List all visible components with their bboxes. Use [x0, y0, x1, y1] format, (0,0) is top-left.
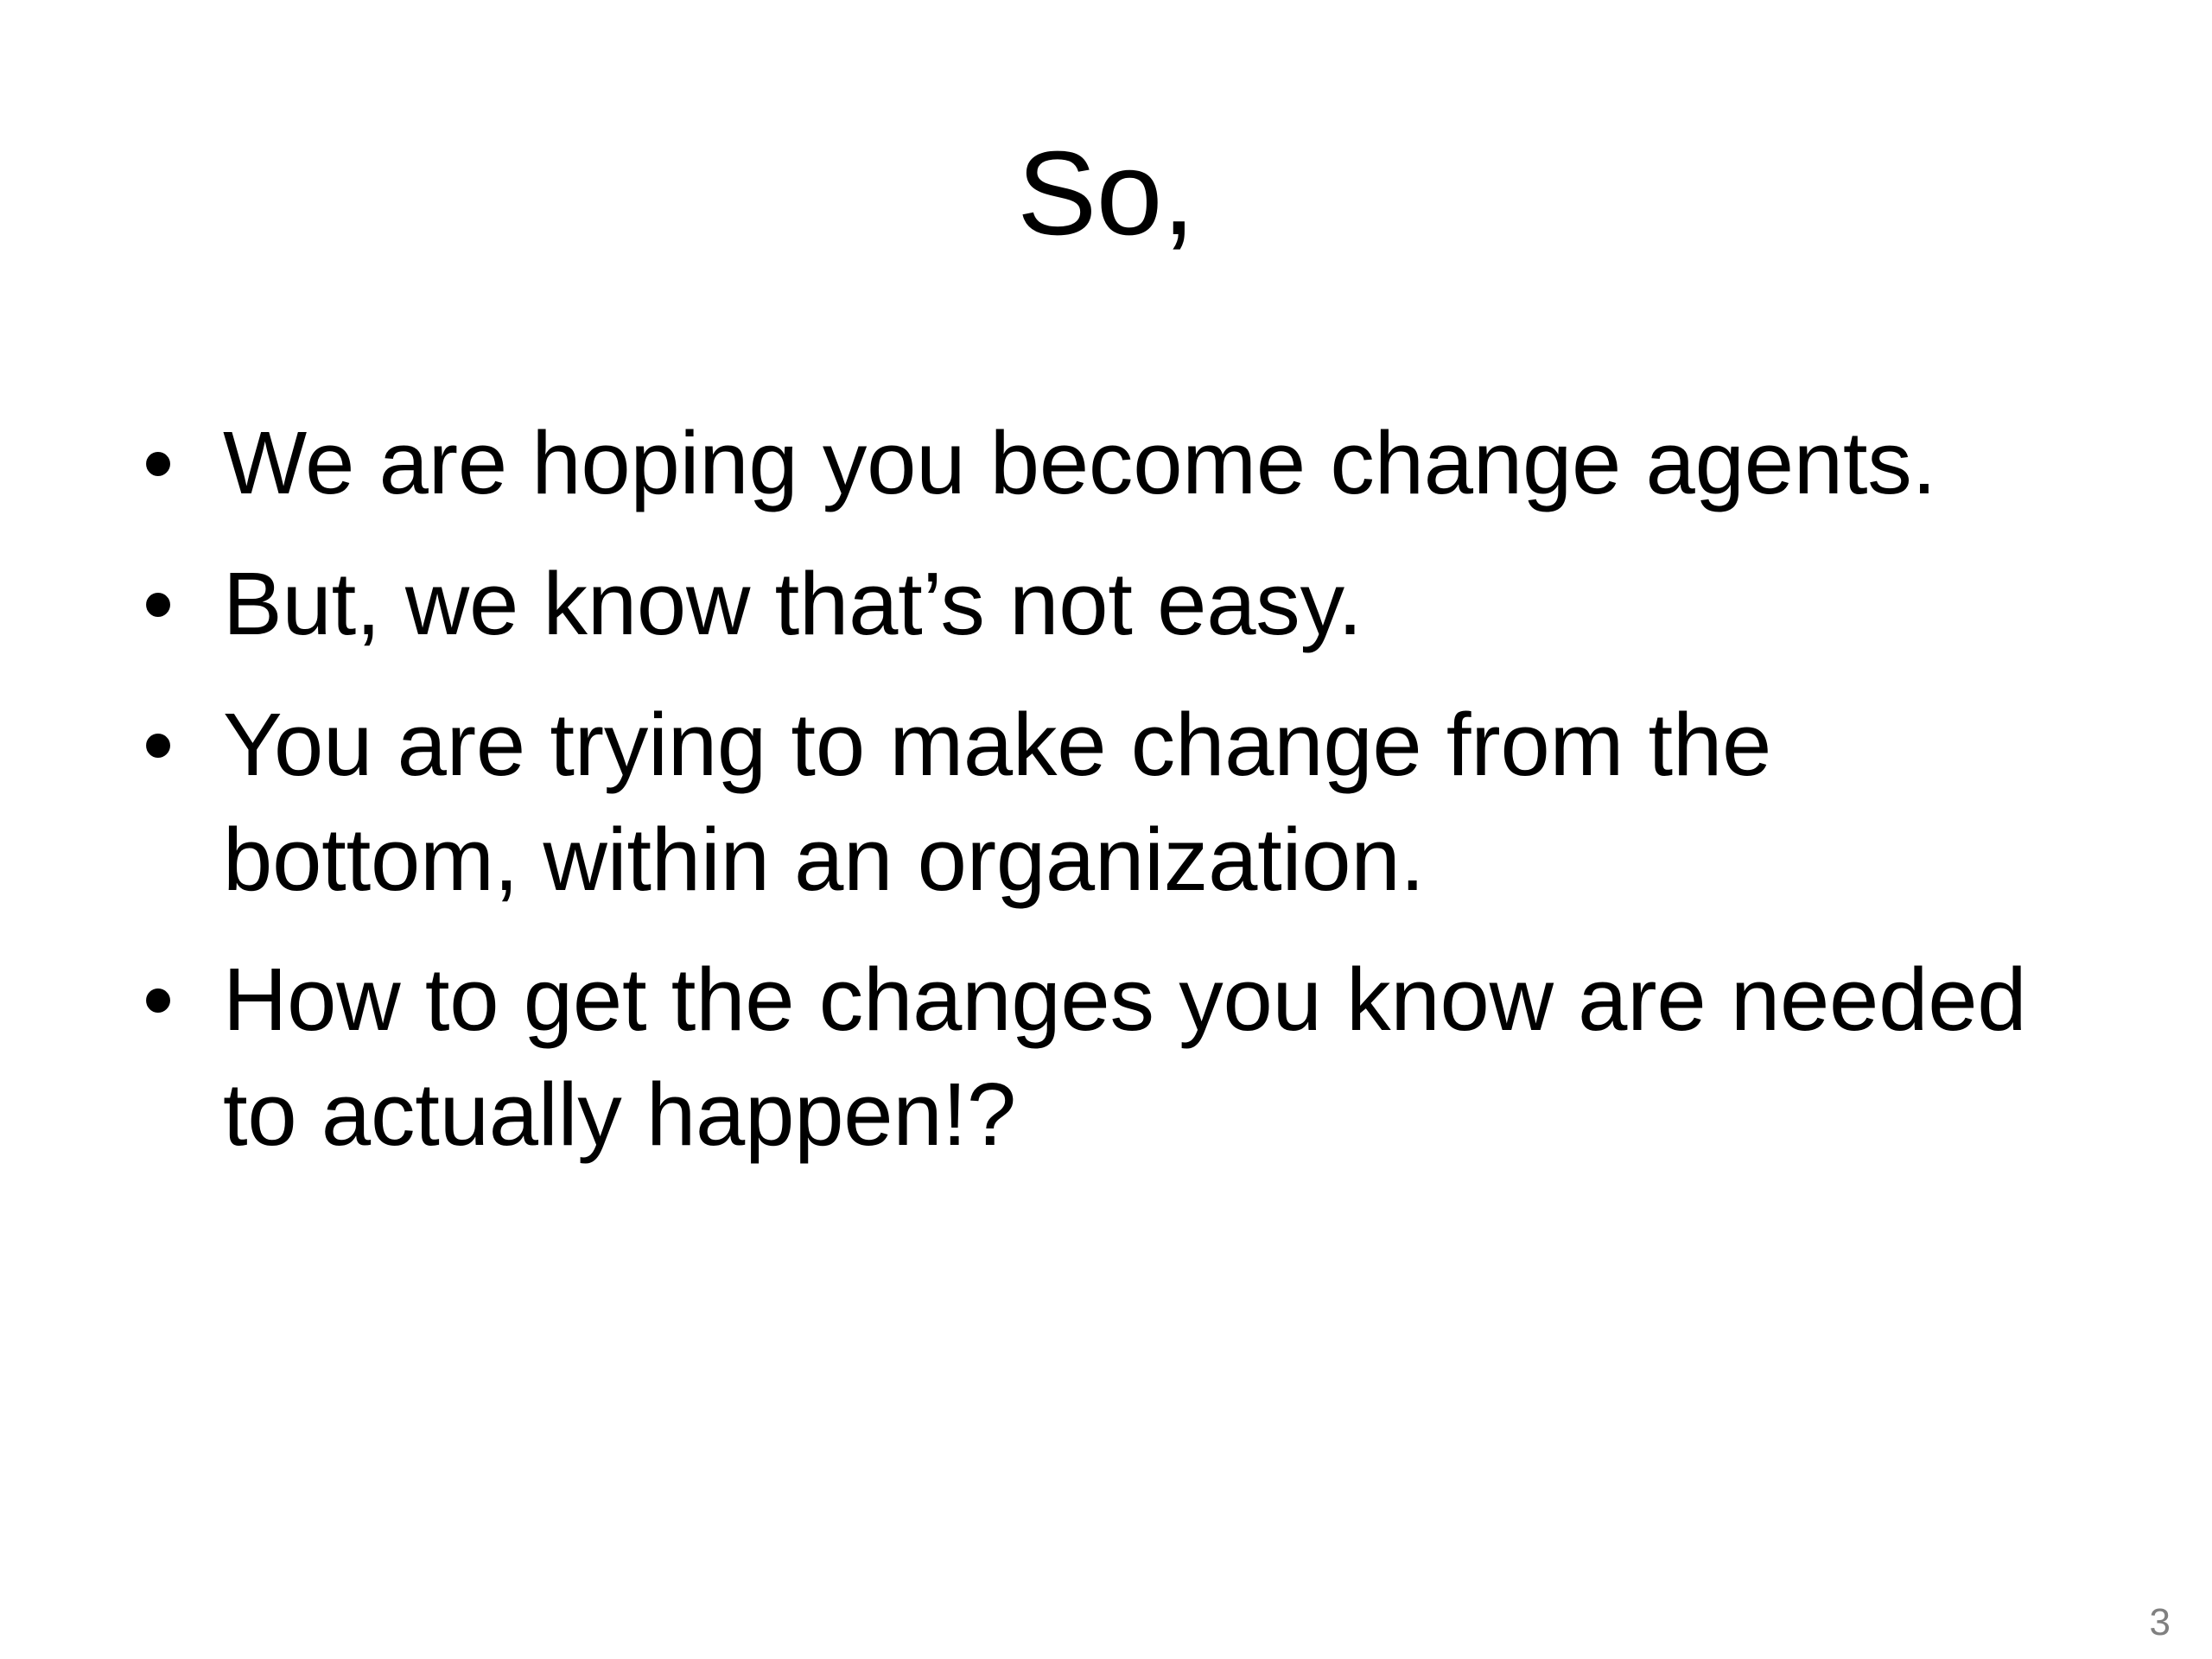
bullet-marker-icon: • [143, 688, 194, 803]
bullet-text-4: How to get the changes you know are need… [223, 943, 2082, 1173]
bullet-text-3: You are trying to make change from the b… [223, 688, 2082, 918]
bullet-marker-icon: • [143, 547, 194, 662]
bullet-item-4: • How to get the changes you know are ne… [138, 943, 2082, 1173]
bullet-item-3: • You are trying to make change from the… [138, 688, 2082, 918]
presentation-slide: So, • We are hoping you become change ag… [0, 0, 2212, 1659]
slide-title: So, [0, 130, 2212, 258]
slide-number: 3 [2150, 1604, 2171, 1642]
bullet-item-2: • But, we know that’s not easy. [138, 547, 2082, 662]
bullet-text-1: We are hoping you become change agents. [223, 406, 2082, 521]
slide-body-bullet-list: • We are hoping you become change agents… [138, 406, 2082, 1173]
bullet-marker-icon: • [143, 943, 194, 1058]
bullet-item-1: • We are hoping you become change agents… [138, 406, 2082, 521]
bullet-text-2: But, we know that’s not easy. [223, 547, 2082, 662]
bullet-marker-icon: • [143, 406, 194, 521]
